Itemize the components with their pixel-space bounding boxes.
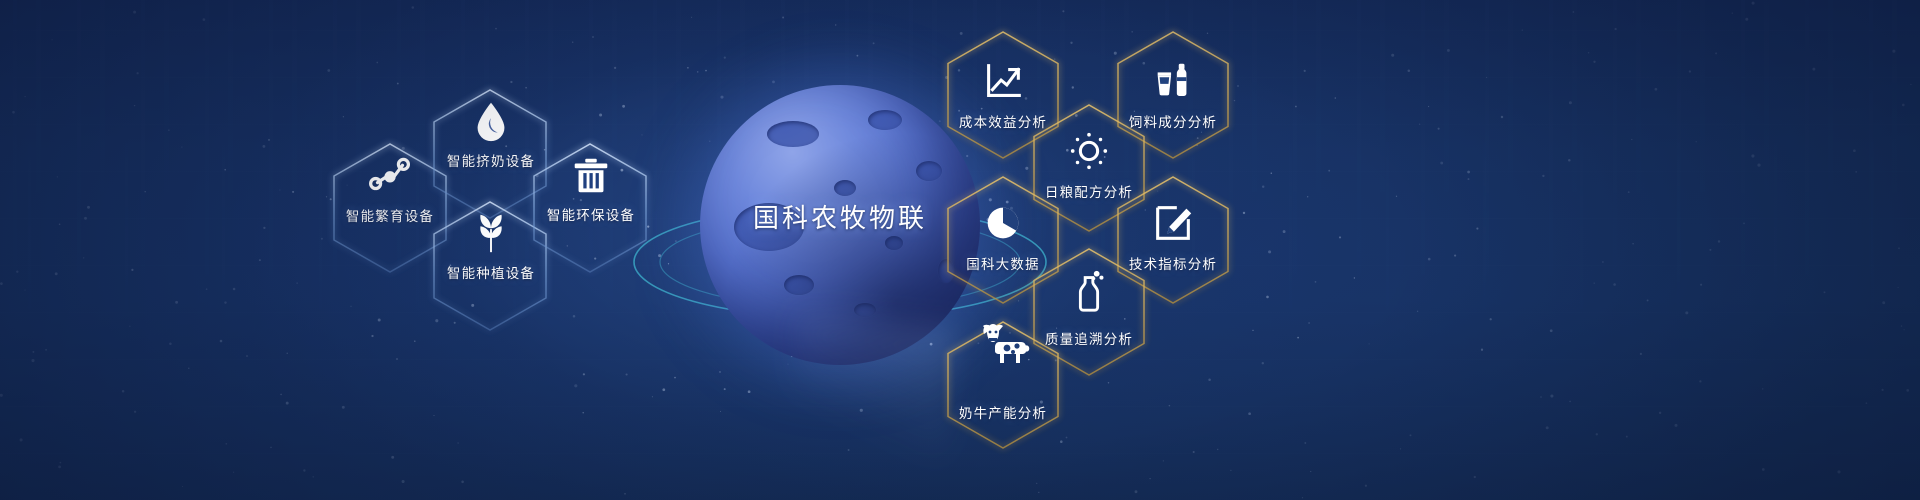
line-chart-icon: [980, 59, 1026, 105]
pie-chart-icon: [980, 200, 1026, 246]
hex-cell-eco[interactable]: 智能环保设备: [525, 138, 655, 278]
sun-icon: [1066, 128, 1112, 174]
bottle-glass-icon: [1150, 59, 1196, 105]
node-graph-icon: [367, 150, 413, 196]
plant-sprout-icon: [468, 210, 514, 256]
water-drop-icon: [468, 98, 514, 144]
hex-label-cow-capacity: 奶牛产能分析: [923, 402, 1083, 422]
trash-bin-icon: [568, 152, 614, 198]
milk-bottle-icon: [1066, 268, 1112, 314]
hex-cell-cow-capacity[interactable]: 奶牛产能分析: [940, 336, 1066, 472]
edit-pen-icon: [1150, 200, 1196, 246]
cow-icon: [976, 318, 1032, 374]
banner-stage: 国科农牧物联: [0, 0, 1920, 500]
hex-label-eco: 智能环保设备: [511, 204, 671, 224]
